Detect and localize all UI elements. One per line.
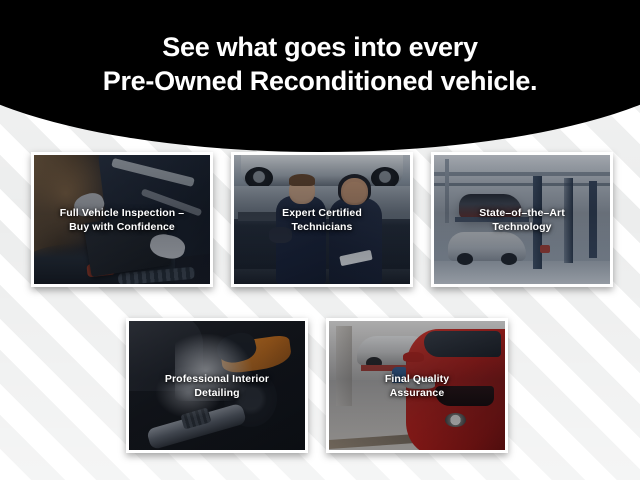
feature-card-expert-certified-technicians[interactable]: Expert Certified Technicians xyxy=(231,152,413,287)
card-caption: State–of–the–Art Technology xyxy=(440,206,604,234)
feature-card-state-of-the-art-technology[interactable]: State–of–the–Art Technology xyxy=(431,152,613,287)
card-caption: Full Vehicle Inspection – Buy with Confi… xyxy=(40,206,204,234)
slide-root: See what goes into every Pre-Owned Recon… xyxy=(0,0,640,480)
card-caption: Professional Interior Detailing xyxy=(135,372,299,400)
feature-card-full-vehicle-inspection[interactable]: Full Vehicle Inspection – Buy with Confi… xyxy=(31,152,213,287)
feature-card-professional-interior-detailing[interactable]: Professional Interior Detailing xyxy=(126,318,308,453)
card-caption: Expert Certified Technicians xyxy=(240,206,404,234)
card-caption: Final Quality Assurance xyxy=(335,372,499,400)
feature-card-grid: Full Vehicle Inspection – Buy with Confi… xyxy=(0,0,640,480)
feature-card-final-quality-assurance[interactable]: Final Quality Assurance xyxy=(326,318,508,453)
